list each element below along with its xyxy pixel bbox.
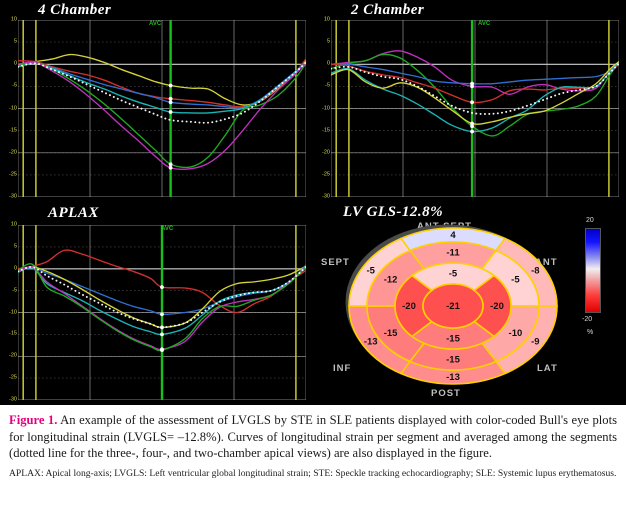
bullseye-value-apical-inferior: -15	[446, 334, 460, 345]
bullseye-chart: 4-8-9-13-13-5-11-5-10-15-15-12-5-20-15-2…	[338, 221, 568, 396]
colorbar-min-label: -20	[582, 316, 592, 323]
bullseye-value-basal-anterior: -8	[531, 266, 539, 277]
y-tick-label: 10	[314, 17, 330, 23]
panel-aplax: APLAX 1050-5-10-15-20-25-30 AVC	[0, 203, 313, 405]
y-tick-label: -10	[1, 106, 17, 112]
bullseye-value-mid-inferior: -15	[384, 328, 398, 339]
panel-title-two-chamber: 2 Chamber	[351, 2, 424, 19]
y-tick-label: -5	[1, 84, 17, 90]
y-tick-label: 10	[1, 17, 17, 23]
bullseye-value-basal-anteroseptal: 4	[450, 230, 456, 241]
panel-bullseye: LV GLS-12.8% ANT SEPT SEPT ANT INF LAT P…	[313, 203, 626, 405]
y-tick-label: -25	[1, 375, 17, 381]
y-tick-label: -15	[314, 128, 330, 134]
avc-label-aplax: AVC	[161, 226, 173, 232]
bullseye-value-basal-inferior: -13	[364, 337, 378, 348]
bullseye-value-mid-inferoseptal: -12	[384, 274, 398, 285]
y-tick-label: 10	[1, 222, 17, 228]
bullseye-value-basal-inferoseptal: -5	[366, 266, 375, 277]
y-tick-label: 5	[314, 39, 330, 45]
y-tick-label: 0	[1, 266, 17, 272]
panel-title-aplax: APLAX	[48, 205, 99, 222]
caption-figure-label: Figure 1.	[9, 413, 57, 427]
caption-block: Figure 1. An example of the assessment o…	[0, 405, 626, 485]
bullseye-title: LV GLS-12.8%	[343, 204, 443, 221]
y-tick-label: 0	[1, 62, 17, 68]
y-tick-label: -5	[314, 84, 330, 90]
bullseye-value-mid-anteroseptal: -11	[446, 248, 460, 259]
y-tick-label: -10	[1, 310, 17, 316]
bullseye-colorbar: 20 -20 %	[580, 217, 620, 347]
panel-two-chamber: 2 Chamber 1050-5-10-15-20-25-30 AVC	[313, 0, 626, 203]
y-tick-label: -30	[1, 194, 17, 200]
y-tick-label: -10	[314, 106, 330, 112]
panel-four-chamber: 4 Chamber 1050-5-10-15-20-25-30 AVC	[0, 0, 313, 203]
colorbar-gradient	[585, 228, 601, 313]
bullseye-value-basal-inferolateral: -13	[446, 372, 460, 383]
y-tick-label: -25	[314, 172, 330, 178]
bullseye-value-apical-septal: -20	[402, 301, 416, 312]
colorbar-unit-label: %	[587, 329, 593, 336]
bullseye-value-apical-lateral: -20	[490, 301, 504, 312]
avc-label-four-chamber: AVC	[149, 21, 161, 27]
y-tick-label: -25	[1, 172, 17, 178]
caption-body-text: An example of the assessment of LVGLS by…	[9, 413, 617, 460]
avc-label-two-chamber: AVC	[478, 21, 490, 27]
y-tick-label: -30	[1, 397, 17, 403]
caption-main: Figure 1. An example of the assessment o…	[9, 412, 617, 462]
bullseye-value-apical-anterior: -5	[449, 269, 458, 280]
strain-plot-two-chamber	[331, 20, 619, 197]
y-tick-label: -30	[314, 194, 330, 200]
y-tick-label: 5	[1, 39, 17, 45]
y-tick-label: 5	[1, 244, 17, 250]
caption-abbreviations: APLAX: Apical long-axis; LVGLS: Left ven…	[9, 468, 617, 480]
y-tick-label: -15	[1, 332, 17, 338]
figure-image: 4 Chamber 1050-5-10-15-20-25-30 AVC 2 Ch…	[0, 0, 626, 405]
y-tick-label: 0	[314, 62, 330, 68]
colorbar-max-label: 20	[586, 217, 594, 224]
y-tick-label: -15	[1, 128, 17, 134]
strain-plot-aplax	[18, 225, 306, 400]
bullseye-value-mid-inferolateral: -15	[446, 355, 460, 366]
strain-plot-four-chamber	[18, 20, 306, 197]
panel-title-four-chamber: 4 Chamber	[38, 2, 111, 19]
bullseye-value-mid-anterolateral: -10	[509, 328, 523, 339]
y-tick-label: -20	[1, 150, 17, 156]
bullseye-value-apex: -21	[446, 301, 460, 312]
y-tick-label: -20	[314, 150, 330, 156]
bullseye-value-mid-anterior: -5	[511, 275, 520, 286]
y-tick-label: -20	[1, 354, 17, 360]
bullseye-value-basal-anterolateral: -9	[531, 337, 539, 348]
y-tick-label: -5	[1, 288, 17, 294]
